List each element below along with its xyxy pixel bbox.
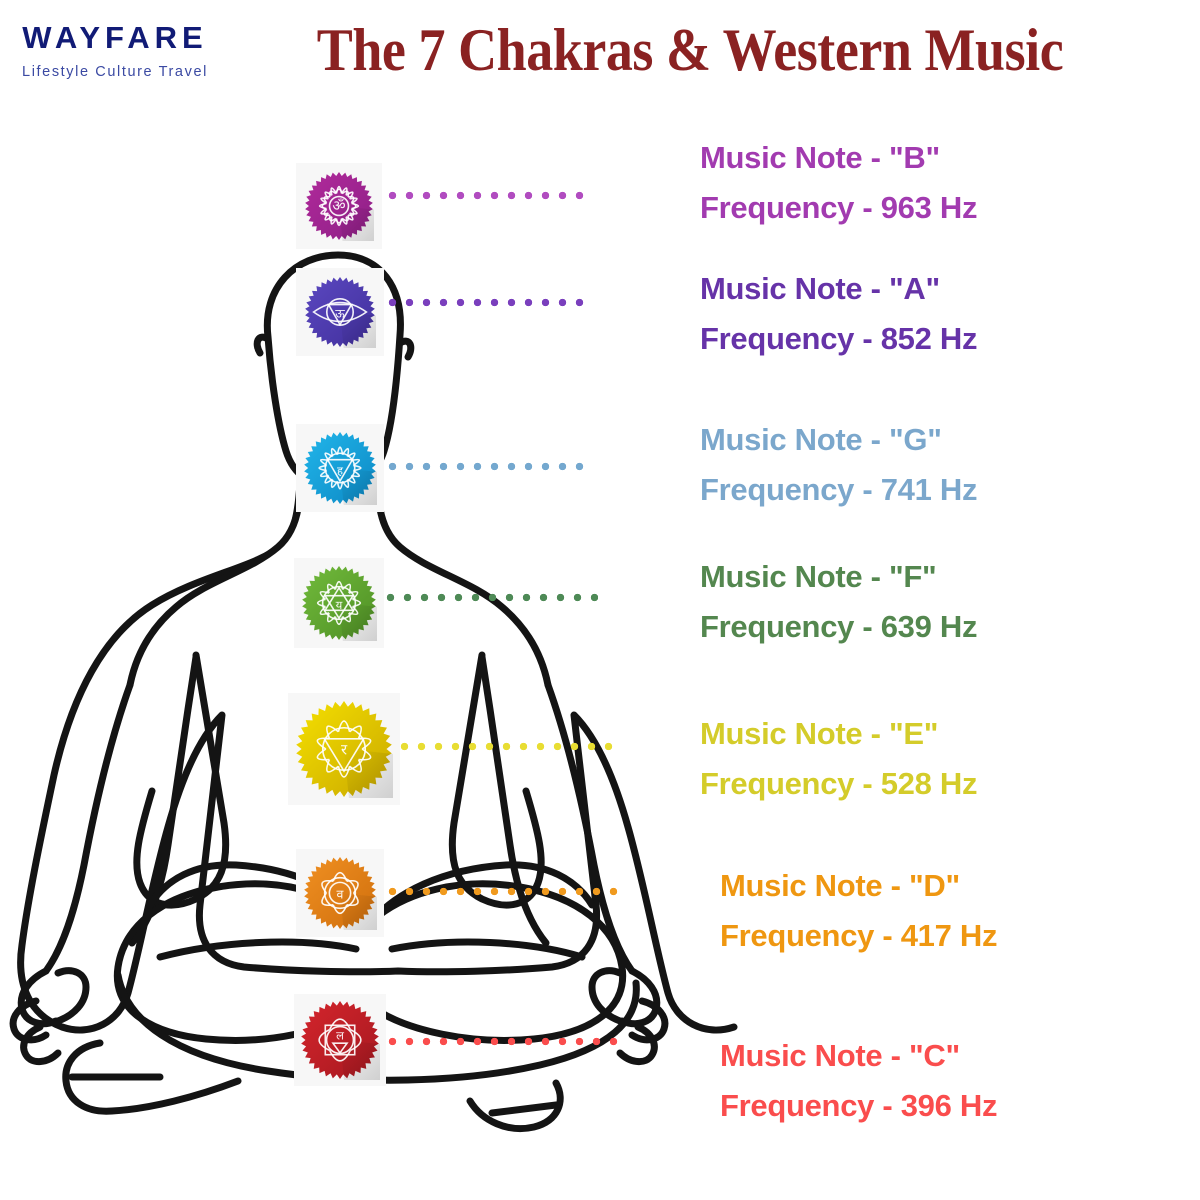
music-note-text-throat: Music Note - "G" [700,422,942,457]
connector-line-crown [388,191,586,200]
chakra-badge-sacral: व [296,849,384,937]
connector-line-third-eye [388,298,586,307]
third-eye-symbol: ऊ [304,276,376,348]
brand-name: WAYFARE [10,22,220,53]
connector-line-heart [386,593,598,602]
sacral-lotus-symbol: व [303,856,377,930]
connector-line-root [388,1037,626,1046]
frequency-text-crown: Frequency - 963 Hz [700,183,977,233]
chakra-badge-third-eye: ऊ [296,268,384,356]
music-note-text-solar-plexus: Music Note - "E" [700,716,938,751]
heart-lotus-symbol: य [301,565,377,641]
throat-lotus-symbol: ह [303,431,377,505]
solar-plexus-lotus-symbol: र [295,700,393,798]
chakra-badge-throat: ह [296,424,384,512]
connector-line-throat [388,462,586,471]
music-note-text-crown: Music Note - "B" [700,140,940,175]
svg-text:ऊ: ऊ [335,307,345,321]
chakra-badge-heart: य [294,558,384,648]
infographic-canvas: WAYFARE Lifestyle Culture Travel The 7 C… [0,0,1200,1200]
chakra-label-solar-plexus: Music Note - "E"Frequency - 528 Hz [700,709,977,809]
page-title: The 7 Chakras & Western Music [258,16,1122,85]
music-note-text-third-eye: Music Note - "A" [700,271,940,306]
svg-text:य: य [336,598,343,612]
frequency-text-solar-plexus: Frequency - 528 Hz [700,759,977,809]
chakra-label-sacral: Music Note - "D"Frequency - 417 Hz [720,861,997,961]
connector-line-solar-plexus [400,742,615,751]
svg-text:र: र [341,741,348,759]
svg-text:ह: ह [337,464,344,477]
frequency-text-throat: Frequency - 741 Hz [700,465,977,515]
chakra-label-throat: Music Note - "G"Frequency - 741 Hz [700,415,977,515]
svg-text:ल: ल [336,1028,344,1042]
svg-text:ॐ: ॐ [332,197,345,214]
frequency-text-heart: Frequency - 639 Hz [700,602,977,652]
music-note-text-heart: Music Note - "F" [700,559,936,594]
om-symbol: ॐ [304,171,374,241]
chakra-label-root: Music Note - "C"Frequency - 396 Hz [720,1031,997,1131]
chakra-label-crown: Music Note - "B"Frequency - 963 Hz [700,133,977,233]
root-lotus-symbol: ल [300,1000,380,1080]
svg-text:व: व [337,886,345,901]
frequency-text-third-eye: Frequency - 852 Hz [700,314,977,364]
chakra-badge-root: ल [294,994,386,1086]
brand-tagline: Lifestyle Culture Travel [10,64,220,80]
wayfare-logo: WAYFARE Lifestyle Culture Travel [10,22,220,80]
chakra-label-third-eye: Music Note - "A"Frequency - 852 Hz [700,264,977,364]
connector-line-sacral [388,887,620,896]
music-note-text-root: Music Note - "C" [720,1038,960,1073]
chakra-badge-solar-plexus: र [288,693,400,805]
frequency-text-sacral: Frequency - 417 Hz [720,911,997,961]
chakra-badge-crown: ॐ [296,163,382,249]
chakra-label-heart: Music Note - "F"Frequency - 639 Hz [700,552,977,652]
frequency-text-root: Frequency - 396 Hz [720,1081,997,1131]
music-note-text-sacral: Music Note - "D" [720,868,960,903]
